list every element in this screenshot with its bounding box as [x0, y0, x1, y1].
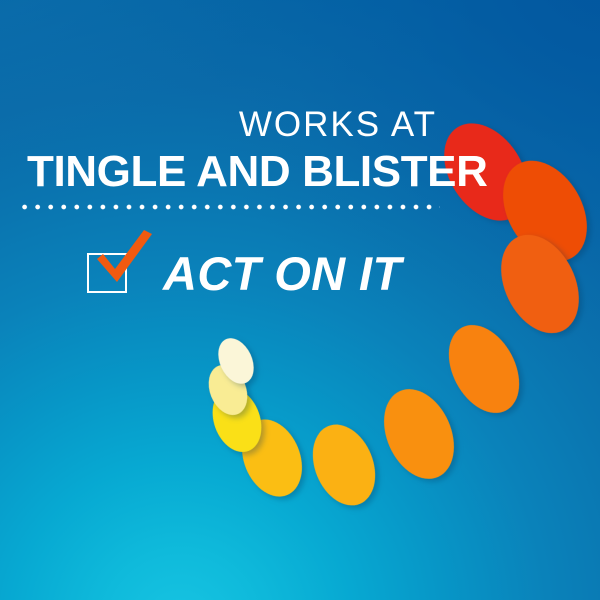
headline-main: TINGLE AND BLISTER: [27, 148, 488, 196]
checkbox-box[interactable]: [87, 253, 127, 293]
promo-banner: WORKS AT TINGLE AND BLISTER ACT ON IT: [0, 0, 600, 600]
blob-6: [301, 415, 386, 515]
dotted-divider: [22, 204, 440, 210]
blob-5: [371, 378, 468, 490]
cta-label: ACT ON IT: [163, 248, 402, 300]
blob-4: [435, 313, 534, 425]
ellipse-arc-graphic: [0, 0, 600, 600]
headline-eyebrow: WORKS AT: [239, 105, 437, 145]
